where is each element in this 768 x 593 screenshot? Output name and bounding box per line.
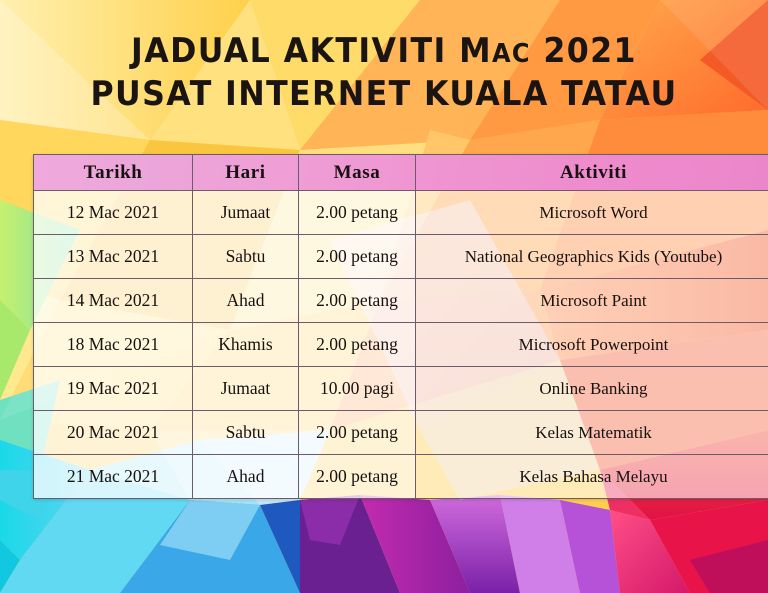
cell-aktiviti: National Geographics Kids (Youtube) xyxy=(416,235,768,279)
month-rest: ac xyxy=(492,39,531,69)
poster-title: JADUAL AKTIVITI Mac 2021 PUSAT INTERNET … xyxy=(0,34,768,111)
cell-aktiviti: Kelas Bahasa Melayu xyxy=(416,455,768,499)
cell-masa: 2.00 petang xyxy=(299,279,416,323)
table-row: 12 Mac 2021 Jumaat 2.00 petang Microsoft… xyxy=(34,191,768,235)
cell-hari: Ahad xyxy=(193,279,299,323)
poster-canvas: JADUAL AKTIVITI Mac 2021 PUSAT INTERNET … xyxy=(0,0,768,593)
cell-masa: 2.00 petang xyxy=(299,323,416,367)
cell-aktiviti: Online Banking xyxy=(416,367,768,411)
cell-masa: 2.00 petang xyxy=(299,455,416,499)
table-row: 14 Mac 2021 Ahad 2.00 petang Microsoft P… xyxy=(34,279,768,323)
schedule-table: Tarikh Hari Masa Aktiviti 12 Mac 2021 Ju… xyxy=(33,154,768,499)
cell-tarikh: 12 Mac 2021 xyxy=(34,191,193,235)
cell-aktiviti: Microsoft Word xyxy=(416,191,768,235)
cell-masa: 2.00 petang xyxy=(299,411,416,455)
cell-hari: Ahad xyxy=(193,455,299,499)
cell-masa: 10.00 pagi xyxy=(299,367,416,411)
title-line-1-month: Mac xyxy=(459,31,531,71)
cell-hari: Jumaat xyxy=(193,191,299,235)
column-header-aktiviti: Aktiviti xyxy=(416,155,768,191)
cell-tarikh: 19 Mac 2021 xyxy=(34,367,193,411)
table-row: 18 Mac 2021 Khamis 2.00 petang Microsoft… xyxy=(34,323,768,367)
cell-hari: Khamis xyxy=(193,323,299,367)
cell-tarikh: 14 Mac 2021 xyxy=(34,279,193,323)
cell-tarikh: 13 Mac 2021 xyxy=(34,235,193,279)
cell-aktiviti: Microsoft Paint xyxy=(416,279,768,323)
table-head: Tarikh Hari Masa Aktiviti xyxy=(34,155,768,191)
cell-hari: Sabtu xyxy=(193,411,299,455)
cell-aktiviti: Microsoft Powerpoint xyxy=(416,323,768,367)
cell-masa: 2.00 petang xyxy=(299,191,416,235)
table-row: 20 Mac 2021 Sabtu 2.00 petang Kelas Mate… xyxy=(34,411,768,455)
table-body: 12 Mac 2021 Jumaat 2.00 petang Microsoft… xyxy=(34,191,768,499)
cell-hari: Jumaat xyxy=(193,367,299,411)
column-header-masa: Masa xyxy=(299,155,416,191)
table-row: 21 Mac 2021 Ahad 2.00 petang Kelas Bahas… xyxy=(34,455,768,499)
table-row: 13 Mac 2021 Sabtu 2.00 petang National G… xyxy=(34,235,768,279)
cell-tarikh: 18 Mac 2021 xyxy=(34,323,193,367)
column-header-hari: Hari xyxy=(193,155,299,191)
cell-tarikh: 20 Mac 2021 xyxy=(34,411,193,455)
title-line-2: PUSAT INTERNET KUALA TATAU xyxy=(27,77,741,111)
schedule-table-wrapper: Tarikh Hari Masa Aktiviti 12 Mac 2021 Ju… xyxy=(33,154,735,499)
cell-hari: Sabtu xyxy=(193,235,299,279)
cell-masa: 2.00 petang xyxy=(299,235,416,279)
title-line-1-year: 2021 xyxy=(543,31,637,71)
table-row: 19 Mac 2021 Jumaat 10.00 pagi Online Ban… xyxy=(34,367,768,411)
cell-tarikh: 21 Mac 2021 xyxy=(34,455,193,499)
title-line-1: JADUAL AKTIVITI Mac 2021 xyxy=(27,34,741,68)
month-initial: M xyxy=(459,31,492,71)
table-header-row: Tarikh Hari Masa Aktiviti xyxy=(34,155,768,191)
title-line-1-prefix: JADUAL AKTIVITI xyxy=(131,31,447,71)
cell-aktiviti: Kelas Matematik xyxy=(416,411,768,455)
column-header-tarikh: Tarikh xyxy=(34,155,193,191)
